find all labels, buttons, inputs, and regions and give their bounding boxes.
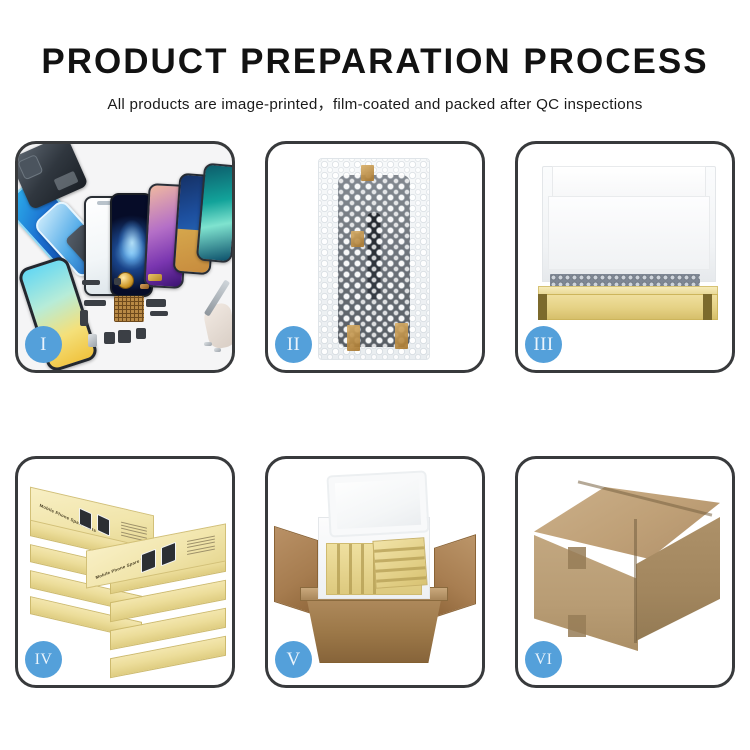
tape-piece-4 bbox=[395, 323, 408, 349]
step-badge-2: II bbox=[275, 326, 312, 363]
foam-lid-icon bbox=[326, 470, 429, 537]
process-step-panel-3[interactable]: III bbox=[515, 141, 735, 373]
grid-row-spacer bbox=[0, 383, 250, 453]
box-label-screen-2 bbox=[97, 514, 110, 537]
tape-piece-3 bbox=[347, 325, 360, 351]
box-label-screen-3 bbox=[141, 549, 156, 574]
step-badge-6: VI bbox=[525, 641, 562, 678]
carton-tape-upper bbox=[568, 547, 586, 569]
part-camera-module bbox=[104, 332, 115, 344]
process-step-panel-4[interactable]: Mobile Phone Spare Parts Mobile Phone Sp… bbox=[15, 456, 235, 688]
part-screw-small-2 bbox=[214, 348, 221, 352]
boxed-parts-row-2 bbox=[372, 537, 427, 589]
retail-box-stack-icon: Mobile Phone Spare Parts Mobile Phone Sp… bbox=[26, 475, 230, 673]
part-screw-small-1 bbox=[204, 342, 212, 346]
carton-flap-right-open bbox=[434, 534, 476, 618]
page-subtitle: All products are image-printed，film-coat… bbox=[0, 92, 750, 114]
part-flex-4 bbox=[150, 311, 168, 316]
part-speaker-module bbox=[118, 330, 131, 343]
tape-piece-2 bbox=[351, 231, 364, 247]
step-badge-5: V bbox=[275, 641, 312, 678]
part-flex-2 bbox=[80, 310, 88, 326]
box-label-screen-1 bbox=[79, 507, 92, 530]
carton-flap-right bbox=[703, 294, 712, 320]
page-title: PRODUCT PREPARATION PROCESS bbox=[0, 42, 750, 82]
process-step-grid: I II III bbox=[0, 138, 750, 698]
bubble-texture bbox=[319, 159, 429, 359]
grid-row-spacer bbox=[250, 383, 500, 453]
logic-board-grid-icon bbox=[114, 296, 144, 322]
carton-front-edge bbox=[634, 519, 637, 643]
part-chip-2 bbox=[148, 274, 162, 281]
process-step-panel-6[interactable]: VI bbox=[515, 456, 735, 688]
box-label-screen-4 bbox=[161, 542, 176, 567]
part-flex-3 bbox=[146, 299, 166, 307]
part-flex-1 bbox=[84, 300, 106, 306]
part-sim-tray bbox=[88, 334, 97, 347]
step-badge-3: III bbox=[525, 326, 562, 363]
carton-front-panel bbox=[538, 294, 718, 320]
bubble-wrap-bag-icon bbox=[318, 158, 430, 360]
process-step-panel-1[interactable]: I bbox=[15, 141, 235, 373]
page-header: PRODUCT PREPARATION PROCESS All products… bbox=[0, 0, 750, 114]
carton-flap-left bbox=[538, 294, 547, 320]
carton-body-icon bbox=[306, 595, 442, 663]
part-screw bbox=[114, 278, 121, 285]
part-chip-3 bbox=[140, 284, 149, 289]
process-step-panel-2[interactable]: II bbox=[265, 141, 485, 373]
tape-piece-1 bbox=[361, 165, 374, 181]
step-badge-1: I bbox=[25, 326, 62, 363]
part-vibrator bbox=[136, 328, 146, 339]
part-chip-1 bbox=[82, 280, 100, 285]
step-badge-4: IV bbox=[25, 641, 62, 678]
foam-sheet-icon bbox=[548, 196, 710, 270]
box-label-lines-2 bbox=[187, 536, 215, 557]
carton-tape-lower bbox=[568, 615, 586, 637]
process-step-panel-5[interactable]: V bbox=[265, 456, 485, 688]
carton-lid-top-edge bbox=[552, 166, 706, 200]
grid-row-spacer bbox=[500, 383, 750, 453]
